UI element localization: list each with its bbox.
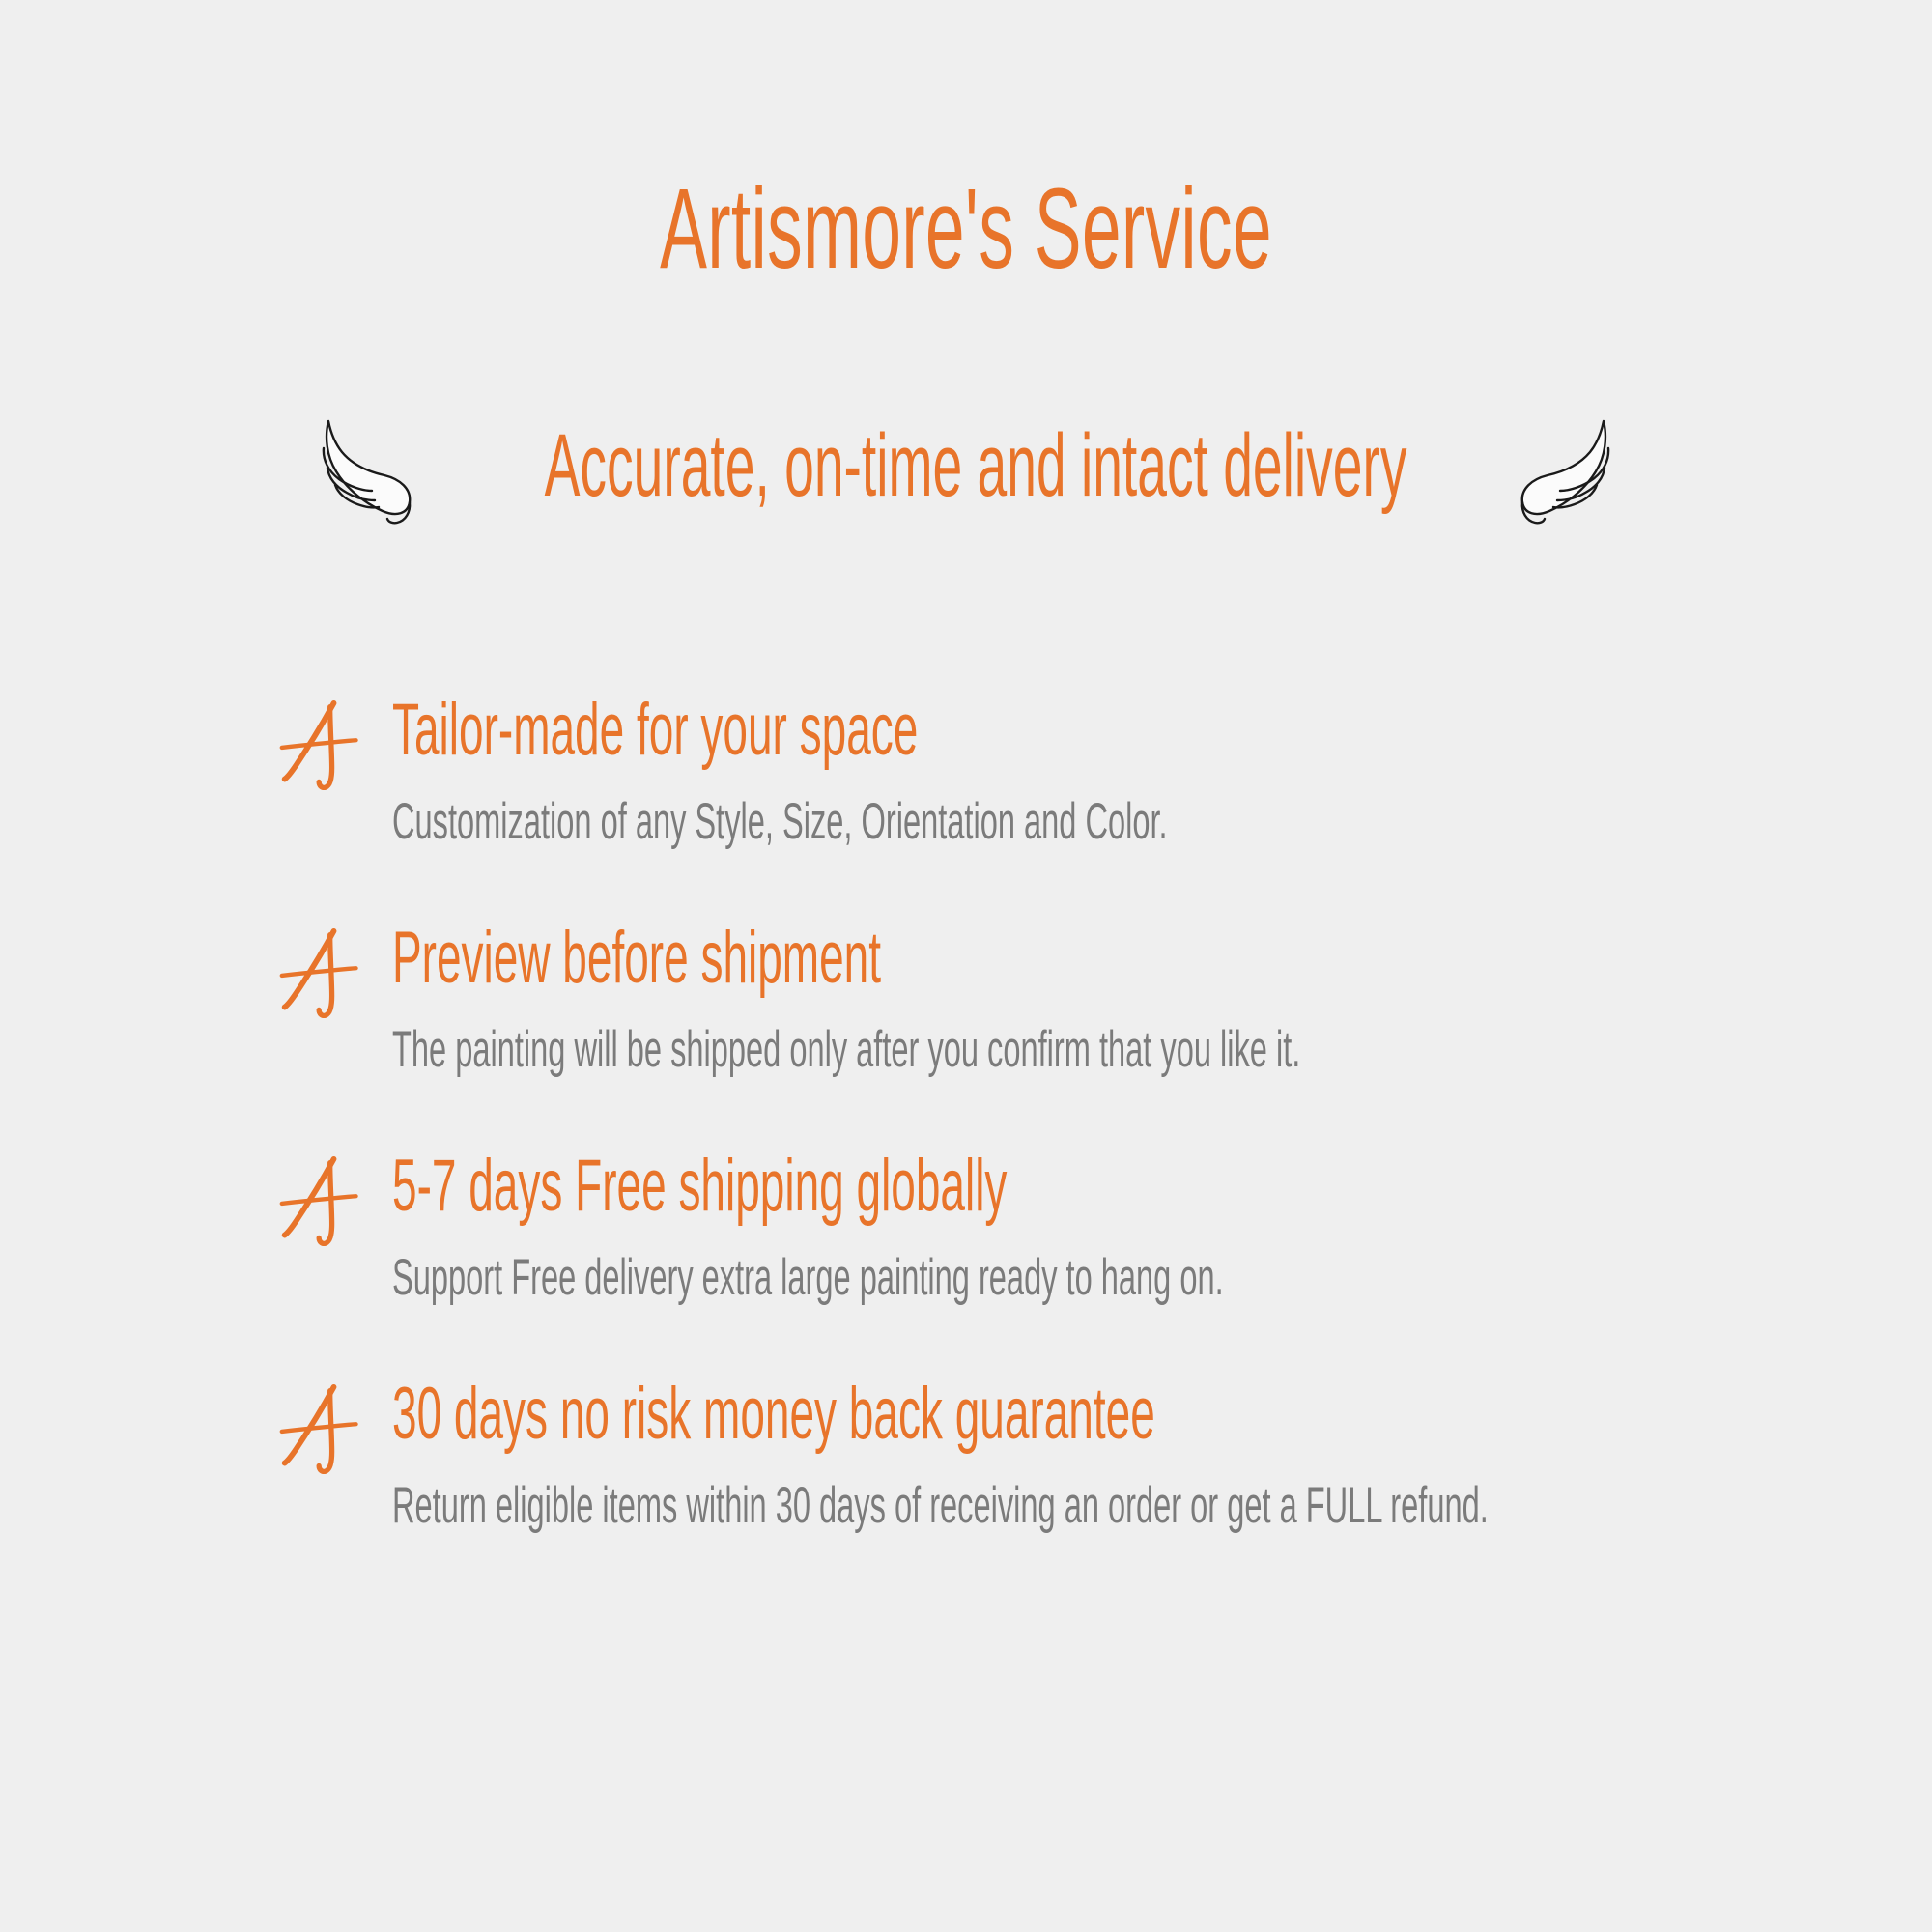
subtitle-text: Accurate, on-time and intact delivery bbox=[545, 421, 1407, 516]
feature-body: Preview before shipment The painting wil… bbox=[392, 922, 1841, 1080]
feature-title: 5-7 days Free shipping globally bbox=[392, 1150, 1269, 1229]
feature-body: Tailor-made for your space Customization… bbox=[392, 694, 1841, 852]
feature-title: Tailor-made for your space bbox=[392, 694, 1269, 773]
script-a-icon bbox=[276, 699, 369, 792]
feature-description: Return eligible items within 30 days of … bbox=[392, 1457, 1284, 1536]
feature-list: Tailor-made for your space Customization… bbox=[276, 694, 1841, 1536]
feature-body: 5-7 days Free shipping globally Support … bbox=[392, 1150, 1841, 1308]
feature-description: Customization of any Style, Size, Orient… bbox=[392, 773, 1284, 852]
script-a-icon bbox=[276, 1383, 369, 1476]
wing-icon bbox=[1511, 408, 1625, 529]
list-item: 30 days no risk money back guarantee Ret… bbox=[276, 1378, 1841, 1536]
feature-body: 30 days no risk money back guarantee Ret… bbox=[392, 1378, 1841, 1536]
list-item: Preview before shipment The painting wil… bbox=[276, 922, 1841, 1080]
subtitle-row: Accurate, on-time and intact delivery bbox=[0, 401, 1932, 536]
feature-description: The painting will be shipped only after … bbox=[392, 1001, 1284, 1080]
feature-description: Support Free delivery extra large painti… bbox=[392, 1229, 1284, 1308]
feature-title: Preview before shipment bbox=[392, 922, 1269, 1001]
script-a-icon bbox=[276, 927, 369, 1020]
list-item: Tailor-made for your space Customization… bbox=[276, 694, 1841, 852]
feature-title: 30 days no risk money back guarantee bbox=[392, 1378, 1269, 1457]
script-a-icon bbox=[276, 1155, 369, 1248]
wing-icon bbox=[307, 408, 421, 529]
page-title: Artismore's Service bbox=[367, 170, 1565, 290]
list-item: 5-7 days Free shipping globally Support … bbox=[276, 1150, 1841, 1308]
service-info-page: Artismore's Service Accurate, on-time an… bbox=[0, 0, 1932, 1932]
